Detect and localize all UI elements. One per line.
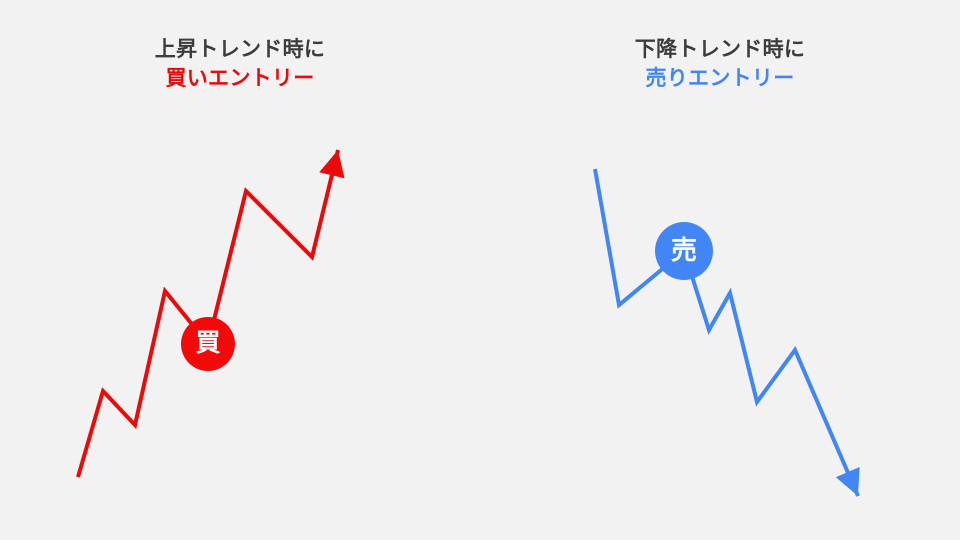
downtrend-title-line-1: 下降トレンド時に: [480, 36, 960, 65]
uptrend-title-line-2: 買いエントリー: [0, 65, 480, 94]
sell-entry-marker-label: 売: [671, 237, 697, 263]
buy-entry-marker-label: 買: [195, 331, 220, 356]
uptrend-title-line-1: 上昇トレンド時に: [0, 36, 480, 65]
diagram-canvas: 上昇トレンド時に 買いエントリー 下降トレンド時に 売りエントリー 買 売: [0, 0, 960, 540]
buy-entry-marker[interactable]: 買: [181, 317, 235, 371]
panel-uptrend: 上昇トレンド時に 買いエントリー: [0, 0, 480, 540]
panel-downtrend: 下降トレンド時に 売りエントリー: [480, 0, 960, 540]
uptrend-title-block: 上昇トレンド時に 買いエントリー: [0, 36, 480, 94]
downtrend-title-line-2: 売りエントリー: [480, 65, 960, 94]
sell-entry-marker[interactable]: 売: [655, 222, 713, 280]
downtrend-title-block: 下降トレンド時に 売りエントリー: [480, 36, 960, 94]
